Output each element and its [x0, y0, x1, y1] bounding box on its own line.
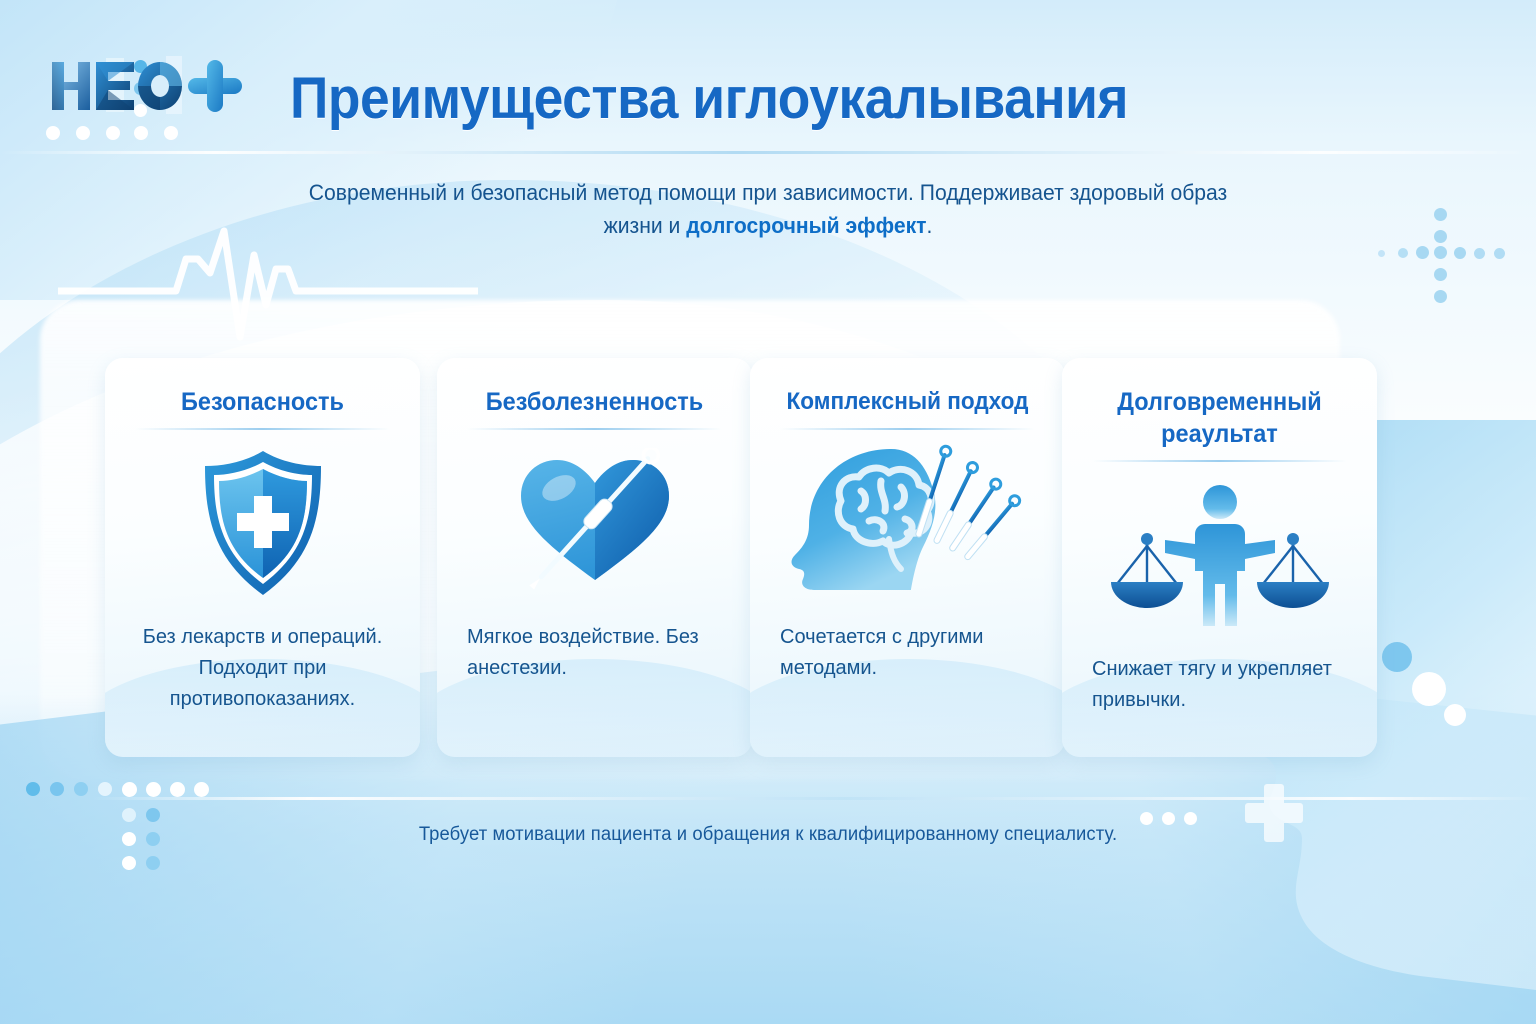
- card-description: Без лекарств и операций. Подходит при пр…: [127, 622, 398, 715]
- head-brain-needles-icon: [783, 443, 1033, 603]
- page-title: Преимущества иглоукалывания: [290, 58, 1146, 140]
- shield-cross-icon: [197, 448, 329, 598]
- benefit-card-painless[interactable]: Безболезненность: [437, 358, 752, 757]
- brand-logo: [48, 52, 248, 118]
- card-icon-slot: [750, 430, 1065, 616]
- header-divider: [0, 151, 1536, 154]
- card-title: Комплексный подход: [774, 386, 1040, 418]
- card-description: Сочетается с другими методами.: [780, 622, 1043, 684]
- page-subtitle: Современный и безопасный метод помощи пр…: [288, 176, 1248, 242]
- background-top-left-shape: [0, 0, 629, 300]
- heart-needle-icon: [511, 448, 679, 598]
- card-title: Безопасность: [129, 386, 395, 418]
- benefit-card-row: Безопасность: [0, 358, 1536, 758]
- dot-cross-icon: [1378, 208, 1536, 338]
- footer-note: Требует мотивации пациента и обращения к…: [23, 824, 1513, 846]
- footer-divider: [0, 797, 1536, 800]
- infographic-canvas: Преимущества иглоукалывания Современный …: [0, 0, 1536, 1024]
- card-description: Мягкое воздействие. Без анестезии.: [467, 622, 730, 684]
- benefit-card-long-term-result[interactable]: Долговременный реаультат: [1062, 358, 1377, 757]
- card-icon-slot: [437, 430, 752, 616]
- benefit-card-complex-approach[interactable]: Комплексный подход: [750, 358, 1065, 757]
- balance-scales-person-icon: [1105, 480, 1335, 630]
- card-title: Безболезненность: [461, 386, 727, 418]
- card-icon-slot: [1062, 462, 1377, 648]
- subtitle-highlight: долгосрочный эффект: [686, 213, 926, 238]
- dot-grid-icon: [26, 766, 256, 876]
- heartbeat-icon: [58, 225, 478, 345]
- card-title: Долговременный реаультат: [1086, 386, 1352, 450]
- benefit-card-safety[interactable]: Безопасность: [105, 358, 420, 757]
- card-description: Снижает тягу и укрепляет привычки.: [1092, 654, 1355, 716]
- subtitle-tail: .: [927, 213, 933, 238]
- card-icon-slot: [105, 430, 420, 616]
